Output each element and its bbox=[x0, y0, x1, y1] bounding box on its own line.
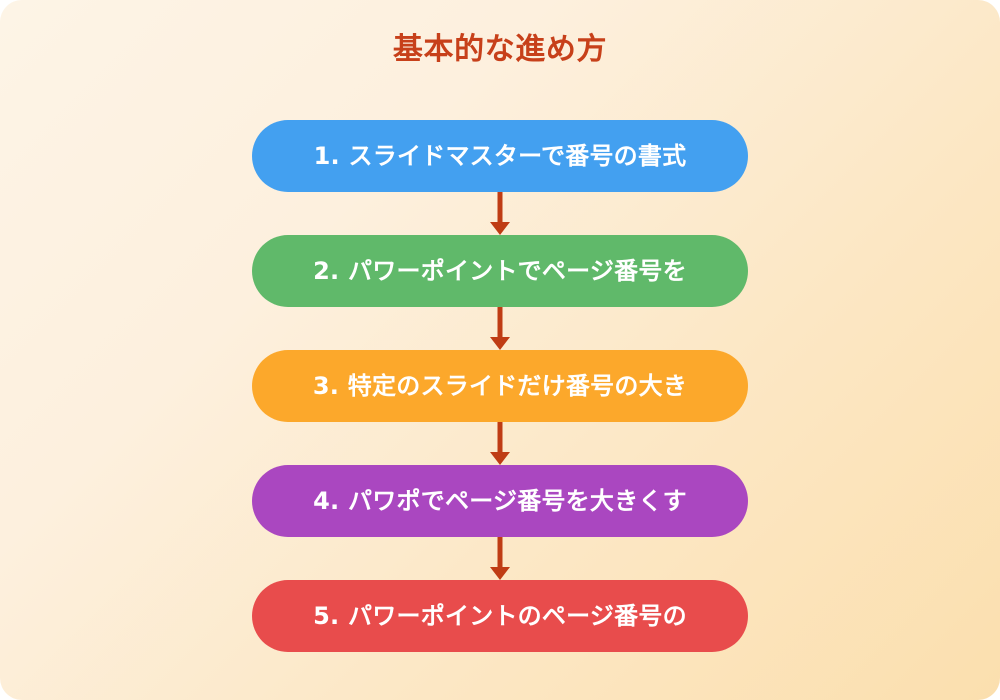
flow-step-5[interactable]: 5. パワーポイントのページ番号の bbox=[252, 580, 748, 652]
flow-step-group: 2. パワーポイントでページ番号を bbox=[252, 235, 748, 350]
flow-step-label: 3. 特定のスライドだけ番号の大き bbox=[313, 372, 687, 401]
flow-step-group: 3. 特定のスライドだけ番号の大き bbox=[252, 350, 748, 465]
flow-connector-2-to-3 bbox=[252, 307, 748, 350]
arrow-down-icon bbox=[487, 537, 513, 580]
page-title: 基本的な進め方 bbox=[0, 30, 1000, 69]
flow-step-label: 5. パワーポイントのページ番号の bbox=[313, 602, 687, 631]
flow-step-list: 1. スライドマスターで番号の書式2. パワーポイントでページ番号を3. 特定の… bbox=[252, 120, 748, 652]
flow-step-group: 5. パワーポイントのページ番号の bbox=[252, 580, 748, 652]
arrow-down-icon bbox=[487, 192, 513, 235]
flow-step-label: 2. パワーポイントでページ番号を bbox=[313, 257, 687, 286]
flow-connector-3-to-4 bbox=[252, 422, 748, 465]
flow-connector-1-to-2 bbox=[252, 192, 748, 235]
flow-step-2[interactable]: 2. パワーポイントでページ番号を bbox=[252, 235, 748, 307]
arrow-down-icon bbox=[487, 307, 513, 350]
flow-step-label: 4. パワポでページ番号を大きくす bbox=[313, 487, 687, 516]
flow-step-group: 4. パワポでページ番号を大きくす bbox=[252, 465, 748, 580]
flow-connector-4-to-5 bbox=[252, 537, 748, 580]
arrow-down-icon bbox=[487, 422, 513, 465]
flow-step-label: 1. スライドマスターで番号の書式 bbox=[314, 142, 687, 171]
flow-step-group: 1. スライドマスターで番号の書式 bbox=[252, 120, 748, 235]
flow-step-3[interactable]: 3. 特定のスライドだけ番号の大き bbox=[252, 350, 748, 422]
flow-step-1[interactable]: 1. スライドマスターで番号の書式 bbox=[252, 120, 748, 192]
flowchart-canvas: 基本的な進め方 1. スライドマスターで番号の書式2. パワーポイントでページ番… bbox=[0, 0, 1000, 700]
flow-step-4[interactable]: 4. パワポでページ番号を大きくす bbox=[252, 465, 748, 537]
